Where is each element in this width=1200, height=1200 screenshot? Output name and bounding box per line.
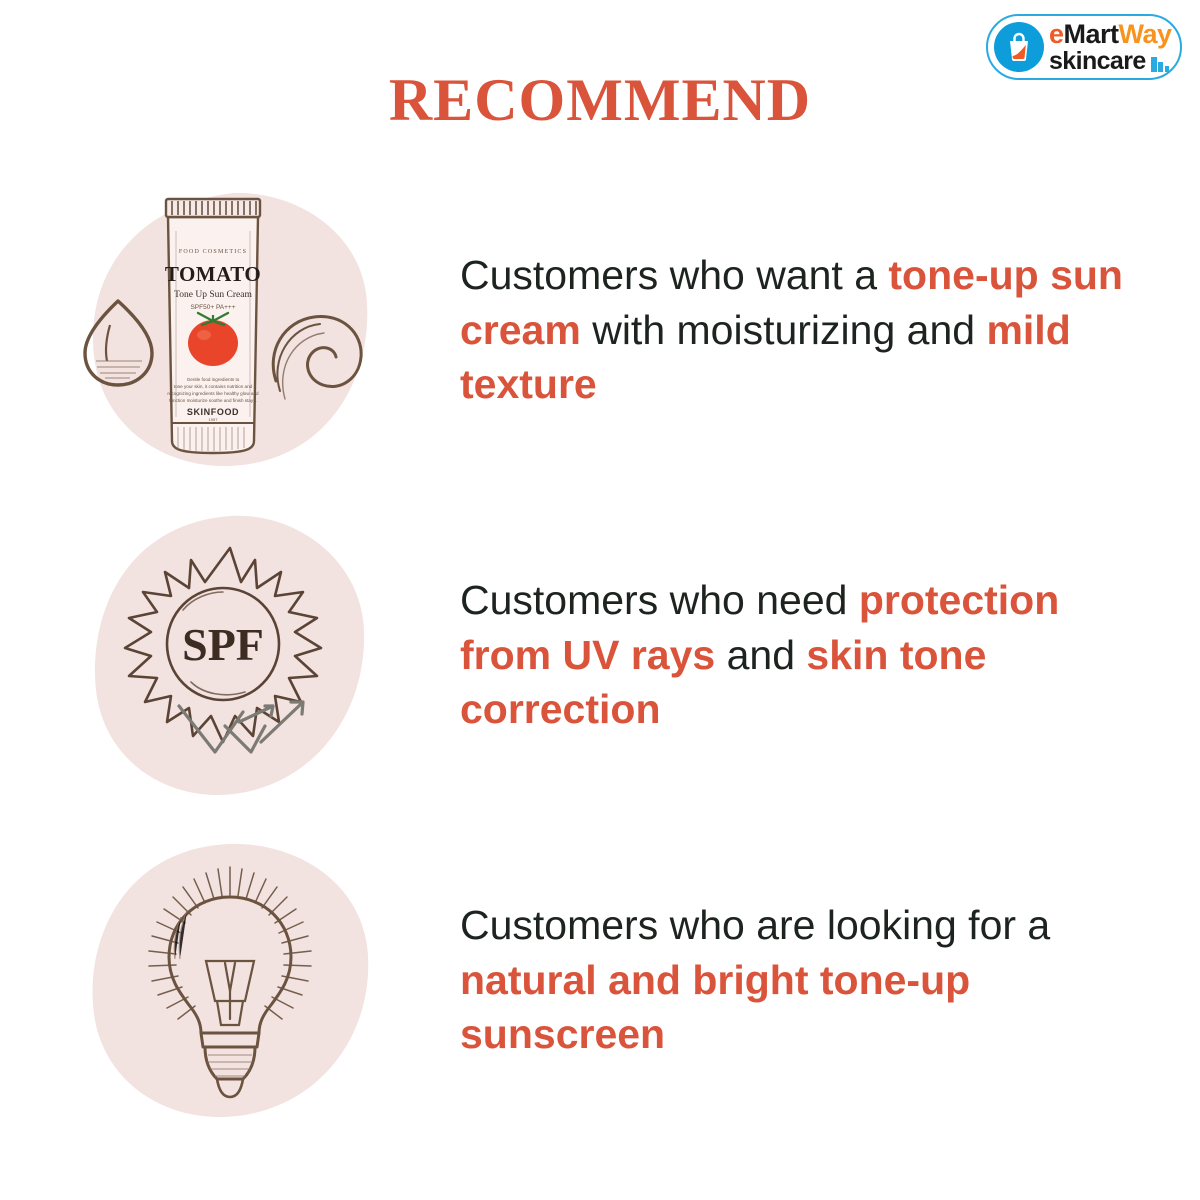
logo-e: e bbox=[1049, 19, 1064, 49]
text-cell-1: Customers who want a tone-up sun cream w… bbox=[460, 248, 1200, 412]
svg-text:SPF50+ PA+++: SPF50+ PA+++ bbox=[190, 304, 235, 311]
cream-swirl-icon bbox=[273, 316, 361, 399]
spf-sun-icon: SPF bbox=[105, 530, 355, 780]
icon-cell-1: FOOD COSMETICS TOMATO Tone Up Sun Cream … bbox=[0, 180, 460, 480]
water-droplet-icon bbox=[85, 301, 152, 385]
logo-mart: Mart bbox=[1064, 19, 1119, 49]
text-segment: Customers who are looking for a bbox=[460, 902, 1050, 948]
recommend-item-1: FOOD COSMETICS TOMATO Tone Up Sun Cream … bbox=[0, 180, 1200, 480]
text-segment: with moisturizing and bbox=[581, 307, 987, 353]
recommend-text-2: Customers who need protection from UV ra… bbox=[460, 573, 1160, 737]
svg-text:recognizing ingredients like h: recognizing ingredients like healthy glo… bbox=[167, 391, 259, 396]
svg-text:tone your skin, it contains nu: tone your skin, it contains nutrition an… bbox=[174, 384, 253, 389]
text-cell-2: Customers who need protection from UV ra… bbox=[460, 573, 1200, 737]
lightbulb-icon bbox=[105, 855, 355, 1105]
svg-text:TOMATO: TOMATO bbox=[165, 262, 261, 286]
svg-text:function moisturize soothe and: function moisturize soothe and finish st… bbox=[169, 398, 257, 403]
logo-wordmark: eMartWay bbox=[1049, 21, 1172, 48]
highlight-segment: natural and bright tone-up sunscreen bbox=[460, 957, 970, 1058]
svg-text:Tone Up Sun Cream: Tone Up Sun Cream bbox=[174, 290, 252, 300]
sun-cream-tube-illustration: FOOD COSMETICS TOMATO Tone Up Sun Cream … bbox=[80, 185, 380, 475]
text-segment: and bbox=[715, 632, 806, 678]
svg-text:Gentle food ingredients to: Gentle food ingredients to bbox=[187, 377, 240, 382]
svg-text:SKINFOOD: SKINFOOD bbox=[187, 407, 239, 417]
recommend-infographic: eMartWay skincare RECOMMEND bbox=[0, 0, 1200, 1200]
svg-text:FOOD COSMETICS: FOOD COSMETICS bbox=[179, 249, 247, 255]
logo-way: Way bbox=[1119, 19, 1172, 49]
recommend-item-2: SPF Customers who need protection from U… bbox=[0, 505, 1200, 805]
text-segment: Customers who want a bbox=[460, 252, 888, 298]
recommend-text-3: Customers who are looking for a natural … bbox=[460, 898, 1160, 1062]
spf-label: SPF bbox=[182, 619, 264, 670]
icon-cell-3 bbox=[0, 835, 460, 1125]
text-segment: Customers who need bbox=[460, 577, 859, 623]
recommend-item-3: Customers who are looking for a natural … bbox=[0, 835, 1200, 1125]
recommend-text-1: Customers who want a tone-up sun cream w… bbox=[460, 248, 1160, 412]
product-tube: FOOD COSMETICS TOMATO Tone Up Sun Cream … bbox=[165, 199, 261, 453]
shopping-bag-icon bbox=[994, 22, 1044, 72]
icon-cell-2: SPF bbox=[0, 505, 460, 805]
page-title: RECOMMEND bbox=[0, 66, 1200, 135]
svg-text:1957: 1957 bbox=[209, 417, 219, 422]
text-cell-3: Customers who are looking for a natural … bbox=[460, 898, 1200, 1062]
